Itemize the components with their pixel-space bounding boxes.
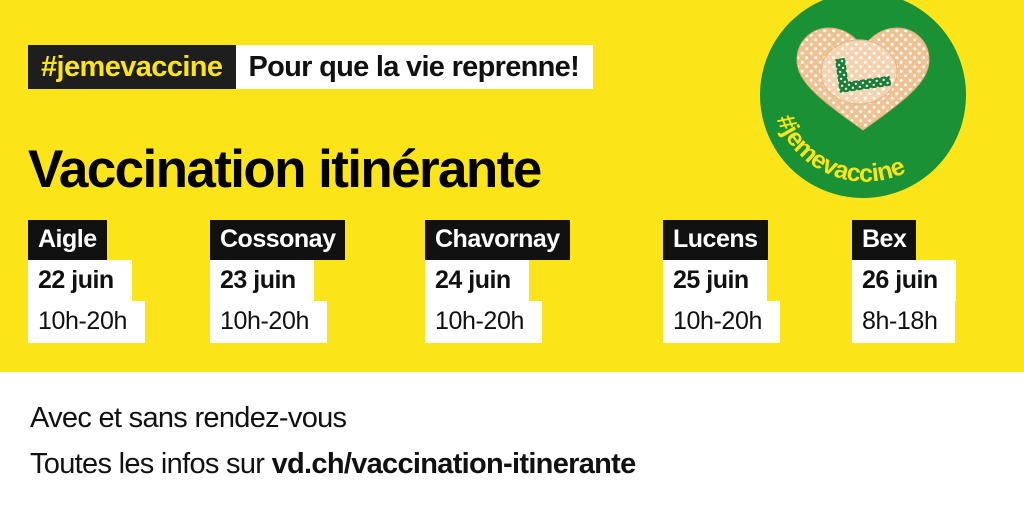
footer-info-prefix: Toutes les infos sur [30, 448, 272, 480]
poster-root: #jemevaccine Pour que la vie reprenne! V… [0, 0, 1024, 512]
city-date: 26 juin [852, 260, 956, 301]
city-hours: 10h-20h [28, 301, 145, 343]
city-date: 22 juin [28, 260, 132, 301]
city-hours: 10h-20h [425, 301, 542, 343]
city-hours: 10h-20h [663, 301, 780, 343]
city-name: Chavornay [425, 220, 570, 260]
city-card-bex: Bex 26 juin 8h-18h [852, 220, 956, 343]
footer-section: Avec et sans rendez-vous Toutes les info… [0, 372, 1024, 512]
city-name: Aigle [28, 220, 107, 260]
cities-row: Aigle 22 juin 10h-20h Cossonay 23 juin 1… [0, 220, 1024, 350]
footer-url[interactable]: vd.ch/vaccination-itinerante [272, 448, 636, 480]
city-card-chavornay: Chavornay 24 juin 10h-20h [425, 220, 570, 343]
jemevaccine-badge: #jemevaccine [752, 0, 974, 198]
city-card-aigle: Aigle 22 juin 10h-20h [28, 220, 145, 343]
hashtag-label: #jemevaccine [28, 45, 236, 89]
city-name: Cossonay [210, 220, 345, 260]
footer-info-line: Toutes les infos sur vd.ch/vaccination-i… [30, 450, 636, 479]
city-hours: 10h-20h [210, 301, 327, 343]
footer-appointment-text: Avec et sans rendez-vous [30, 404, 346, 433]
tagline-label: Pour que la vie reprenne! [236, 45, 593, 89]
city-name: Lucens [663, 220, 768, 260]
city-date: 23 juin [210, 260, 314, 301]
city-card-lucens: Lucens 25 juin 10h-20h [663, 220, 780, 343]
header-banner: #jemevaccine Pour que la vie reprenne! [28, 45, 593, 89]
city-date: 25 juin [663, 260, 767, 301]
page-title: Vaccination itinérante [28, 140, 541, 199]
city-hours: 8h-18h [852, 301, 955, 343]
city-card-cossonay: Cossonay 23 juin 10h-20h [210, 220, 345, 343]
city-date: 24 juin [425, 260, 529, 301]
city-name: Bex [852, 220, 916, 260]
